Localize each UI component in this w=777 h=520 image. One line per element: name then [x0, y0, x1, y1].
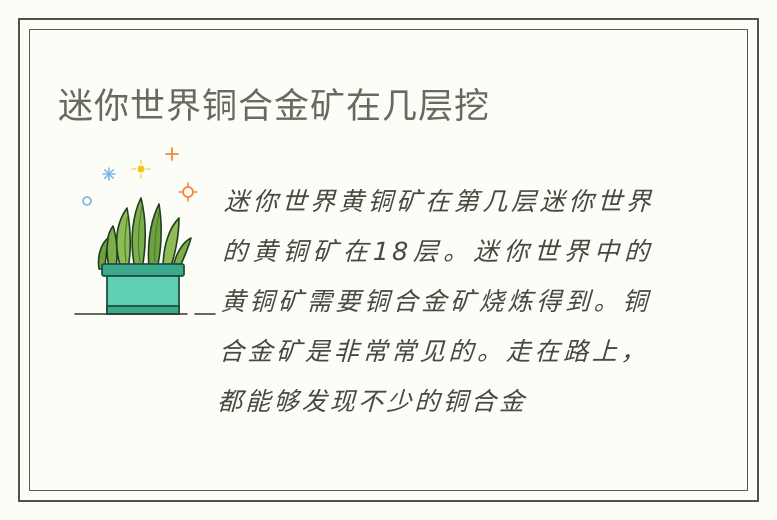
circle-sparkle-icon — [83, 197, 91, 205]
article-page: 迷你世界铜合金矿在几层挖 — [0, 0, 777, 520]
ring-sparkle-icon — [179, 183, 197, 201]
dot-burst-icon — [132, 160, 150, 178]
plant-pot — [102, 264, 184, 314]
snowflake-icon — [103, 168, 115, 180]
article-body-text: 迷你世界黄铜矿在第几层迷你世界的黄铜矿在18层。迷你世界中的黄铜矿需要铜合金矿烧… — [216, 177, 655, 427]
potted-plant-illustration — [69, 142, 229, 322]
page-title: 迷你世界铜合金矿在几层挖 — [58, 83, 718, 131]
plus-sparkle-icon — [166, 148, 178, 160]
article-content: 迷你世界黄铜矿在第几层迷你世界的黄铜矿在18层。迷你世界中的黄铜矿需要铜合金矿烧… — [29, 130, 748, 491]
plant-leaves — [98, 198, 191, 269]
